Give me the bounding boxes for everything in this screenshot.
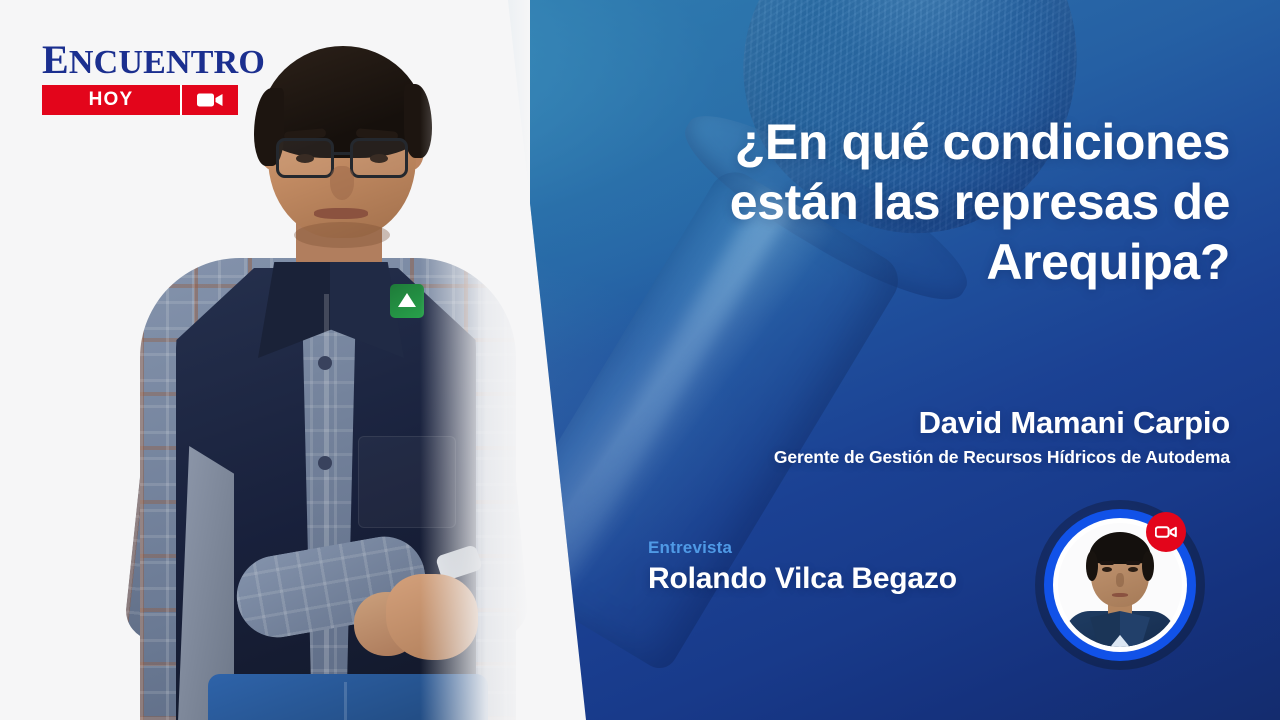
guest-name: David Mamani Carpio xyxy=(470,406,1230,440)
video-camera-icon xyxy=(182,92,238,108)
headline-title: ¿En qué condiciones están las represas d… xyxy=(610,112,1230,292)
guest-mouth xyxy=(314,208,368,219)
guest-vest-pocket xyxy=(358,436,456,528)
guest-nose xyxy=(330,166,354,200)
avatar-right-eye xyxy=(1128,567,1138,572)
avatar-left-eyebrow xyxy=(1100,561,1114,565)
avatar-right-eyebrow xyxy=(1126,561,1140,565)
interviewer-name: Rolando Vilca Begazo xyxy=(648,562,1048,596)
eyeglasses-bridge xyxy=(334,152,350,155)
logo-wordmark: ENCUENTRO xyxy=(42,40,238,80)
broadcast-title-card: ENCUENTRO HOY ¿En qué condiciones están … xyxy=(0,0,1280,720)
interview-label: Entrevista xyxy=(648,538,1048,558)
interviewer-avatar[interactable] xyxy=(1035,500,1205,670)
guest-jeans-seam xyxy=(344,682,347,720)
avatar-video-camera-icon xyxy=(1146,512,1186,552)
avatar-hair-right xyxy=(1142,551,1154,581)
guest-hand-right xyxy=(386,574,478,660)
guest-hair-right xyxy=(404,84,432,158)
avatar-hair-left xyxy=(1086,551,1098,581)
eyeglasses-left-lens-icon xyxy=(276,138,334,178)
logo-wordmark-rest: NCUENTRO xyxy=(69,44,265,81)
guest-vest-button-mid xyxy=(318,456,332,470)
eyeglasses-right-lens-icon xyxy=(350,138,408,178)
guest-chin-shadow xyxy=(294,222,390,248)
autodema-logo-patch-icon xyxy=(390,284,424,318)
avatar-left-eye xyxy=(1102,567,1112,572)
channel-logo[interactable]: ENCUENTRO HOY xyxy=(42,40,238,115)
guest-info: David Mamani Carpio Gerente de Gestión d… xyxy=(470,406,1230,468)
guest-photo xyxy=(118,26,538,720)
guest-role: Gerente de Gestión de Recursos Hídricos … xyxy=(470,447,1230,468)
logo-wordmark-initial: E xyxy=(42,37,69,82)
logo-badge-label: HOY xyxy=(42,89,180,111)
guest-jeans xyxy=(208,674,488,720)
interviewer-info: Entrevista Rolando Vilca Begazo xyxy=(648,538,1048,596)
avatar-mouth xyxy=(1112,593,1128,597)
avatar-nose xyxy=(1116,573,1124,587)
guest-vest-button-top xyxy=(318,356,332,370)
logo-badge-bar: HOY xyxy=(42,85,238,115)
